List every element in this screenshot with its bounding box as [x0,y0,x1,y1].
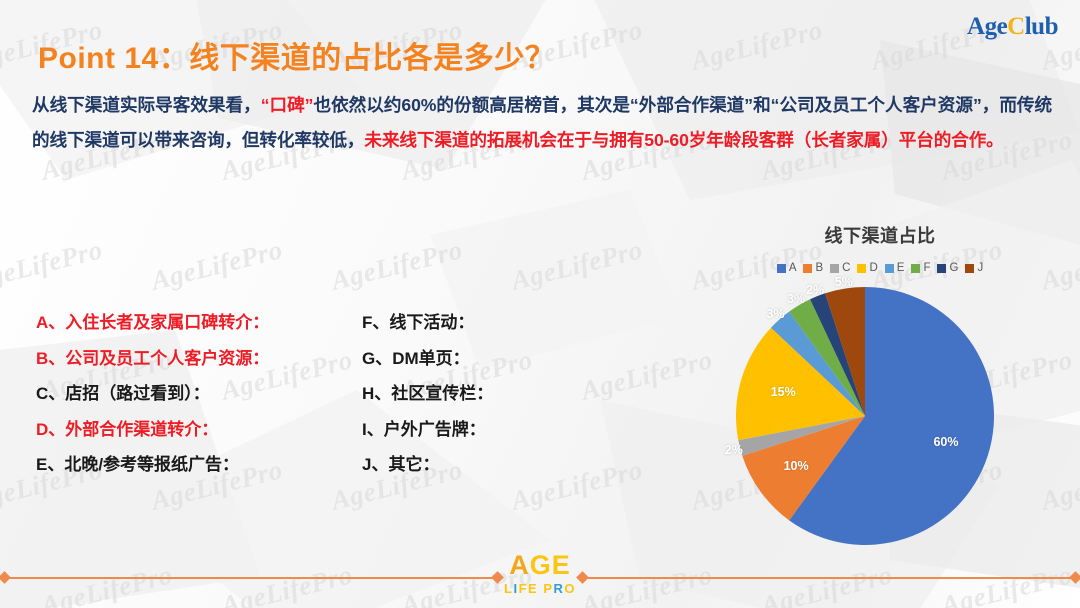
list-item: F、线下活动： [362,305,493,341]
footer-logo-subtitle: LIFE PRO [504,582,576,595]
legend-item-e[interactable]: E [885,262,905,274]
footer-sub-f: F [519,581,528,596]
ageclub-logo: AgeClub [967,14,1058,39]
footer-logo-letter-a: A [509,550,530,580]
legend-swatch-icon [885,264,894,273]
list-item: H、社区宣传栏： [362,376,493,412]
legend-label: E [897,262,905,274]
footer-rule-right [581,577,1076,579]
legend-label: B [815,262,823,274]
footer-diamond-far-left [0,571,11,584]
legend-label: C [842,262,850,274]
summary-paragraph: 从线下渠道实际导客效果看，“口碑”也依然以约60%的份额高居榜首，其次是“外部合… [32,88,1052,158]
legend-label: J [977,262,983,274]
footer-sub-e: E [528,581,538,596]
footer-sub-r: R [553,581,564,596]
logo-text-age: Age [967,13,1007,40]
list-item: E、北晚/参考等报纸广告： [36,447,269,483]
offline-channel-pie-chart: 线下渠道占比 ABCDEFGJ 60%10%2%15%3%3%2%5% [660,222,1060,546]
legend-item-a[interactable]: A [777,262,797,274]
footer-sub-o: O [564,581,576,596]
logo-text-c: C [1007,13,1025,40]
logo-text-lub: lub [1025,13,1058,40]
legend-item-c[interactable]: C [830,262,850,274]
list-item: C、店招（路过看到）： [36,376,269,412]
footer-logo-letter-g: G [530,550,552,580]
slide-footer: AGE LIFE PRO [0,546,1080,608]
pie-svg [735,286,995,546]
watermark-text: AgeLifePro [328,234,465,296]
legend-label: D [869,262,877,274]
pie-label-d: 15% [771,385,796,399]
pie-label-c: 2% [725,443,743,457]
chart-legend: ABCDEFGJ [700,262,1060,274]
pie-label-g: 2% [806,283,824,297]
paragraph-segment-1: 从线下渠道实际导客效果看， [32,95,261,115]
pie-label-e: 3% [766,307,784,321]
footer-rule-left [4,577,499,579]
pie-label-b: 10% [784,459,809,473]
list-item: I、户外广告牌： [362,412,493,448]
legend-item-f[interactable]: F [911,262,930,274]
watermark-text: AgeLifePro [148,234,285,296]
legend-swatch-icon [911,264,920,273]
list-item: D、外部合作渠道转介： [36,412,269,448]
legend-item-b[interactable]: B [803,262,823,274]
footer-diamond-far-right [1069,571,1080,584]
legend-label: G [949,262,958,274]
paragraph-highlight-koubei: “口碑” [261,95,314,115]
legend-swatch-icon [777,264,786,273]
watermark-text: AgeLifePro [688,14,825,76]
pie-label-f: 3% [787,292,805,306]
watermark-text: AgeLifePro [508,454,645,516]
list-item: J、其它： [362,447,493,483]
watermark-text: AgeLifePro [508,234,645,296]
list-item: G、DM单页： [362,341,493,377]
pie-label-a: 60% [933,435,958,449]
pie-label-j: 5% [835,275,853,289]
list-item: A、入住长者及家属口碑转介： [36,305,269,341]
footer-diamond-inner-left [491,571,504,584]
legend-swatch-icon [857,264,866,273]
legend-item-g[interactable]: G [937,262,958,274]
paragraph-highlight-future: 未来线下渠道的拓展机会在于与拥有50-60岁年龄段客群（长者家属）平台的合作。 [364,130,1003,150]
channel-list-right: F、线下活动：G、DM单页：H、社区宣传栏：I、户外广告牌：J、其它： [362,305,493,483]
footer-sub-p: P [543,581,553,596]
legend-swatch-icon [803,264,812,273]
list-item: B、公司及员工个人客户资源： [36,341,269,377]
legend-item-j[interactable]: J [965,262,983,274]
chart-title: 线下渠道占比 [700,222,1060,248]
channel-list-left: A、入住长者及家属口碑转介：B、公司及员工个人客户资源：C、店招（路过看到）：D… [36,305,269,483]
footer-logo-letter-e: E [552,550,571,580]
footer-logo-age: AGE [504,552,576,579]
legend-label: A [789,262,797,274]
legend-swatch-icon [830,264,839,273]
footer-diamond-inner-right [576,571,589,584]
legend-swatch-icon [965,264,974,273]
legend-item-d[interactable]: D [857,262,877,274]
legend-label: F [923,262,930,274]
watermark-text: AgeLifePro [0,234,106,296]
slide-root: AgeLifeProAgeLifeProAgeLifeProAgeLifePro… [0,0,1080,608]
agelifepro-logo: AGE LIFE PRO [504,552,576,595]
page-title: Point 14：线下渠道的占比各是多少？ [38,33,555,77]
legend-swatch-icon [937,264,946,273]
pie-plot-area: 60%10%2%15%3%3%2%5% [735,286,995,546]
